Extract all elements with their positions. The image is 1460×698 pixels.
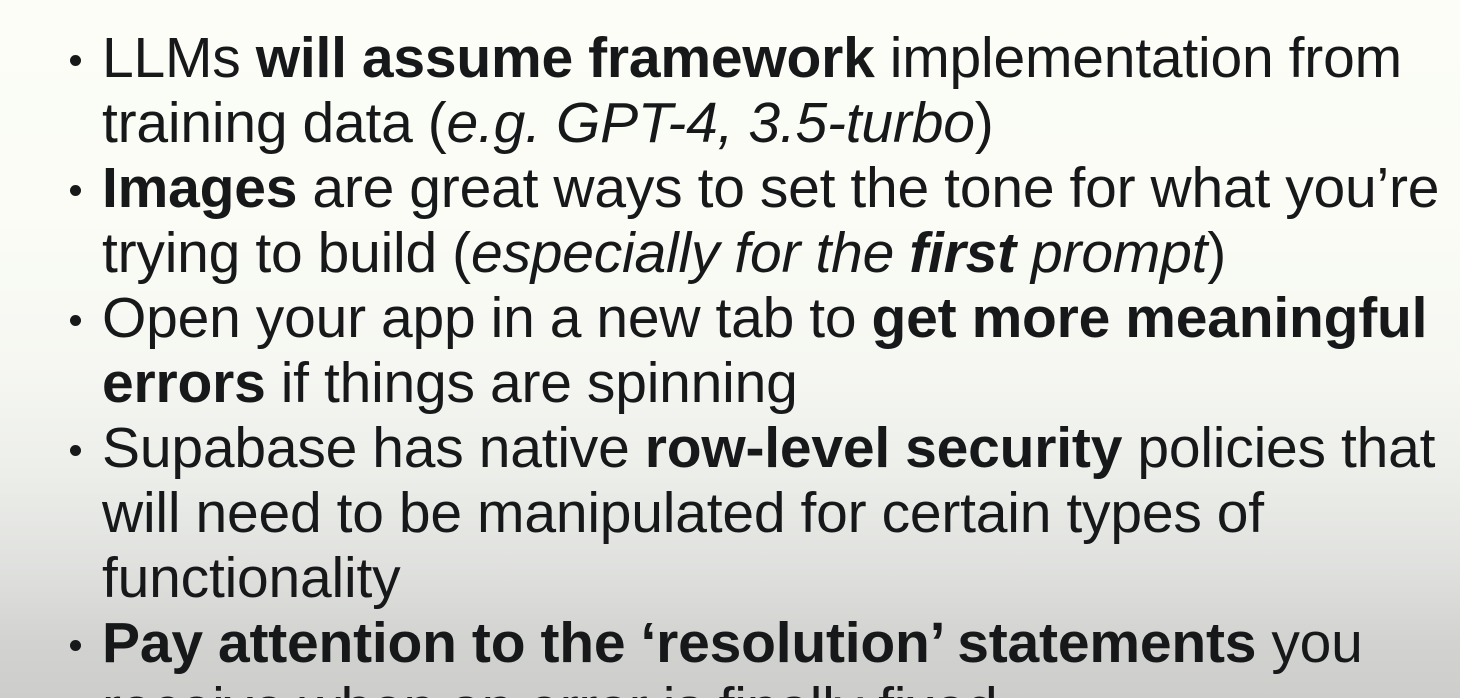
bullet-text: Pay attention to the ‘resolution’ statem… bbox=[102, 611, 1442, 698]
bullet-item: Supabase has native row-level security p… bbox=[62, 416, 1442, 611]
bullet-item: Open your app in a new tab to get more m… bbox=[62, 286, 1442, 416]
bullet-text-run: ) bbox=[975, 91, 994, 155]
slide-canvas: LLMs will assume framework implementatio… bbox=[0, 0, 1460, 698]
bullet-list: LLMs will assume framework implementatio… bbox=[62, 26, 1442, 698]
bullet-text-run: first bbox=[909, 221, 1016, 285]
bullet-text: LLMs will assume framework implementatio… bbox=[102, 26, 1442, 156]
bullet-text-run: Images bbox=[102, 156, 297, 220]
bullet-text-run: Pay attention to the ‘resolution’ statem… bbox=[102, 611, 1256, 675]
bullet-text-run: ) bbox=[1207, 221, 1226, 285]
bullet-text-run: will assume framework bbox=[256, 26, 875, 90]
bullet-item: Images are great ways to set the tone fo… bbox=[62, 156, 1442, 286]
bullet-point-icon bbox=[70, 315, 81, 326]
bullet-item: Pay attention to the ‘resolution’ statem… bbox=[62, 611, 1442, 698]
bullet-text: Supabase has native row-level security p… bbox=[102, 416, 1442, 611]
bullet-text-run: e.g. GPT-4, 3.5-turbo bbox=[447, 91, 975, 155]
bullet-text-run: row-level security bbox=[645, 416, 1122, 480]
bullet-text: Open your app in a new tab to get more m… bbox=[102, 286, 1442, 416]
bullet-text-run: if things are spinning bbox=[266, 351, 798, 415]
bullet-point-icon bbox=[70, 640, 81, 651]
bullet-text: Images are great ways to set the tone fo… bbox=[102, 156, 1442, 286]
bullet-text-run: prompt bbox=[1016, 221, 1207, 285]
bullet-point-icon bbox=[70, 185, 81, 196]
bullet-text-run: especially for the bbox=[471, 221, 909, 285]
bullet-text-run: Open your app in a new tab to bbox=[102, 286, 872, 350]
bullet-text-run: LLMs bbox=[102, 26, 256, 90]
bullet-item: LLMs will assume framework implementatio… bbox=[62, 26, 1442, 156]
bullet-point-icon bbox=[70, 445, 81, 456]
bullet-point-icon bbox=[70, 55, 81, 66]
bullet-text-run: Supabase has native bbox=[102, 416, 645, 480]
